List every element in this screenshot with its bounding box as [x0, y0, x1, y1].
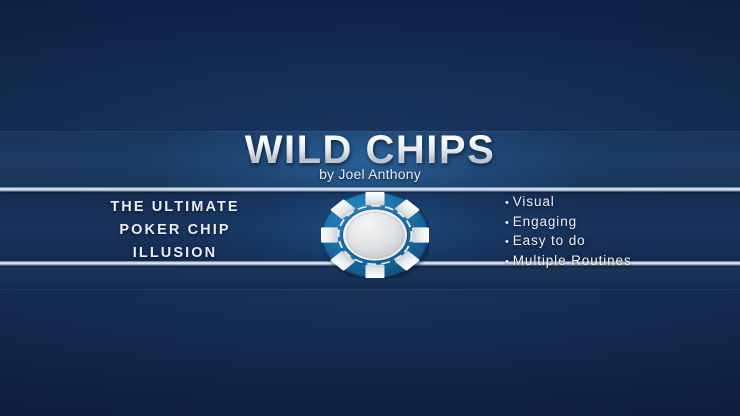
banner-root: WILD CHIPS by Joel Anthony THE ULTIMATE …	[0, 0, 740, 416]
feature-label: Multiple Routines	[513, 252, 632, 271]
feature-label: Visual	[513, 193, 555, 212]
feature-label: Engaging	[513, 213, 577, 232]
bullet-icon: •	[505, 233, 510, 252]
feature-label: Easy to do	[513, 232, 586, 251]
tagline-line-1: THE ULTIMATE	[60, 196, 290, 219]
bullet-icon: •	[505, 214, 510, 233]
bullet-icon: •	[505, 194, 510, 213]
bullet-icon: •	[505, 253, 510, 272]
tagline-line-3: ILLUSION	[60, 242, 290, 265]
list-item: • Engaging	[505, 213, 632, 233]
poker-chip-icon	[321, 192, 429, 278]
tagline-line-2: POKER CHIP	[60, 219, 290, 242]
list-item: • Easy to do	[505, 232, 632, 252]
feature-list: • Visual • Engaging • Easy to do • Multi…	[505, 193, 632, 271]
list-item: • Multiple Routines	[505, 252, 632, 272]
author-byline: by Joel Anthony	[0, 166, 740, 182]
tagline: THE ULTIMATE POKER CHIP ILLUSION	[60, 196, 290, 265]
list-item: • Visual	[505, 193, 632, 213]
hairline-bottom	[0, 289, 740, 290]
